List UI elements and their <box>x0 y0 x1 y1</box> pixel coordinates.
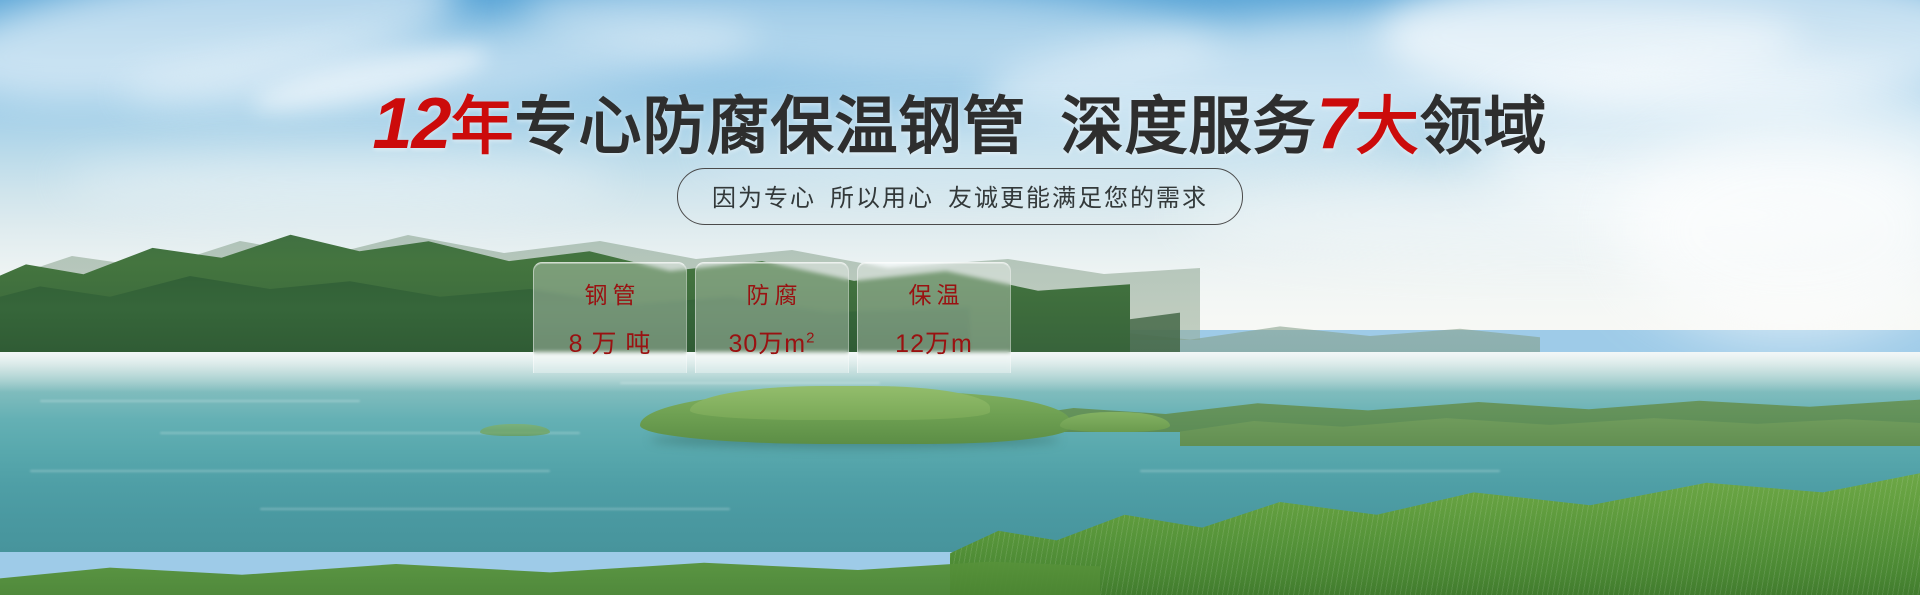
stat-value: 30万m2 <box>729 324 816 360</box>
stat-value-text: 12万m <box>895 330 973 358</box>
subtitle-pill: 因为专心所以用心友诚更能满足您的需求 <box>677 168 1243 225</box>
stat-card-insulation: 保温 12万m <box>857 262 1011 373</box>
subtitle-part-3: 友诚更能满足您的需求 <box>948 185 1208 212</box>
headline-years-number: 12 <box>372 84 450 164</box>
headline-phrase-2: 深度服务 <box>1061 92 1317 162</box>
headline-phrase-3: 领域 <box>1420 92 1548 162</box>
stats-card-group: 钢管 8 万 吨 防腐 30万m2 保温 12万m <box>533 262 1011 373</box>
headline: 12年专心防腐保温钢管深度服务7大领域 <box>0 88 1920 160</box>
stat-value: 12万m <box>895 324 973 360</box>
headline-fields-unit: 大 <box>1356 92 1420 162</box>
headline-years-unit: 年 <box>451 92 515 162</box>
hero-banner: 12年专心防腐保温钢管深度服务7大领域 因为专心所以用心友诚更能满足您的需求 钢… <box>0 0 1920 595</box>
stat-card-steel-pipe: 钢管 8 万 吨 <box>533 262 687 373</box>
headline-phrase-1: 专心防腐保温钢管 <box>515 92 1027 162</box>
stat-label: 钢管 <box>580 276 641 310</box>
stat-value-text: 8 万 吨 <box>569 330 652 358</box>
banner-content: 12年专心防腐保温钢管深度服务7大领域 因为专心所以用心友诚更能满足您的需求 钢… <box>0 0 1920 595</box>
subtitle-part-2: 所以用心 <box>830 185 934 212</box>
subtitle-part-1: 因为专心 <box>712 185 816 212</box>
stat-value-sup: 2 <box>806 330 815 347</box>
stat-label: 防腐 <box>742 276 803 310</box>
stat-label: 保温 <box>904 276 965 310</box>
stat-value: 8 万 吨 <box>569 324 652 360</box>
stat-card-anticorrosion: 防腐 30万m2 <box>695 262 849 373</box>
headline-fields-number: 7 <box>1317 84 1356 164</box>
stat-value-text: 30万m <box>729 330 807 358</box>
